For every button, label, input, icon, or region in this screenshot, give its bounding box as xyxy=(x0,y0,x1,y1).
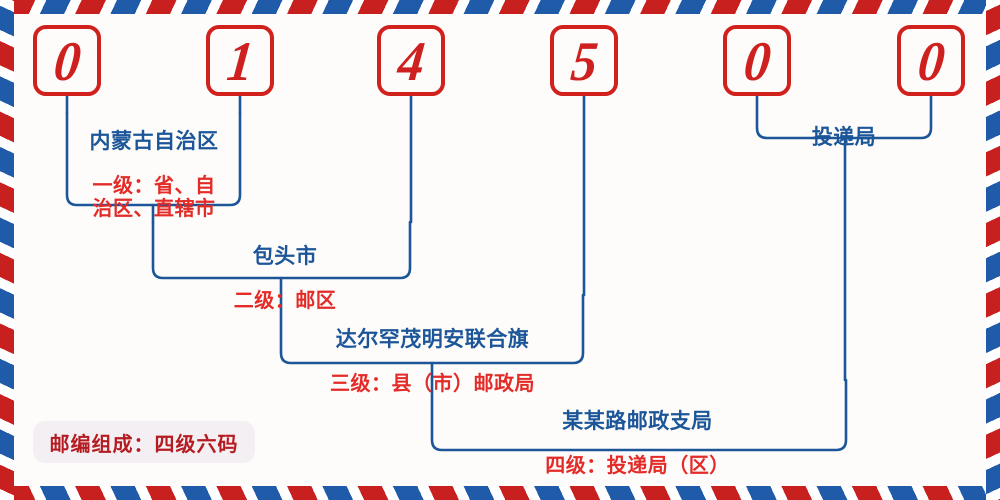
postcode-composition-badge: 邮编组成：四级六码 xyxy=(33,421,255,463)
digit-box-4[interactable]: 5 xyxy=(550,25,618,96)
level-4-subtitle: 四级：投递局（区） xyxy=(500,455,775,479)
digit-glyph-2: 1 xyxy=(224,33,256,89)
digit-glyph-6: 0 xyxy=(915,33,947,89)
digit-box-5[interactable]: 0 xyxy=(723,25,791,96)
level-3-title: 达尔罕茂明安联合旗 xyxy=(300,327,565,352)
postcode-structure-diagram: 0 1 4 5 0 0 内蒙古自治区 一级：省、自 治区、直辖市 包头市 二级：… xyxy=(0,0,1000,500)
digit-glyph-3: 4 xyxy=(395,33,427,89)
delivery-office-text: 投递局 xyxy=(768,125,920,150)
delivery-office-label: 投递局 xyxy=(768,106,920,169)
level-4-label: 某某路邮政支局 四级：投递局（区） xyxy=(500,390,775,497)
digit-glyph-4: 5 xyxy=(568,33,600,89)
level-4-title: 某某路邮政支局 xyxy=(500,409,775,434)
digit-box-2[interactable]: 1 xyxy=(206,25,274,96)
level-1-title: 内蒙古自治区 xyxy=(71,129,237,154)
digit-box-3[interactable]: 4 xyxy=(377,25,445,96)
level-2-title: 包头市 xyxy=(185,244,385,269)
digit-box-1[interactable]: 0 xyxy=(33,25,101,96)
level-1-label: 内蒙古自治区 一级：省、自 治区、直辖市 xyxy=(71,110,237,241)
postcode-composition-text: 邮编组成：四级六码 xyxy=(50,428,239,457)
digit-glyph-1: 0 xyxy=(51,33,83,89)
digit-box-6[interactable]: 0 xyxy=(897,25,965,96)
digit-glyph-5: 0 xyxy=(741,33,773,89)
level-1-subtitle: 一级：省、自 治区、直辖市 xyxy=(71,175,237,222)
